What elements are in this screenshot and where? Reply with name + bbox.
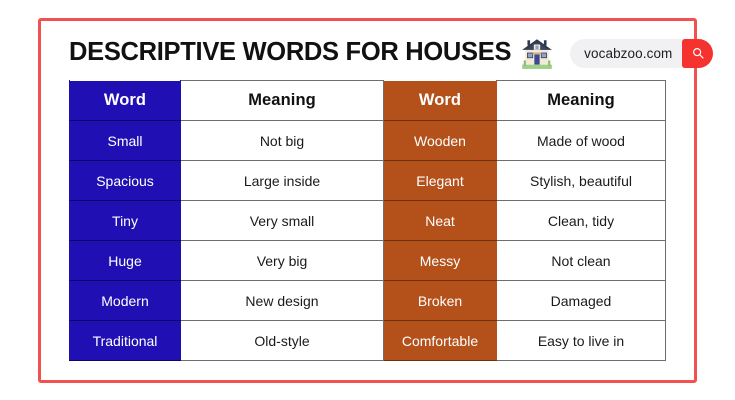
table-row: Modern New design Broken Damaged	[70, 281, 666, 321]
cell-meaning-right: Stylish, beautiful	[497, 161, 666, 201]
poster-canvas: DESCRIPTIVE WORDS FOR HOUSES vocabzoo.co…	[0, 0, 735, 400]
cell-meaning-left: Not big	[181, 121, 384, 161]
cell-meaning-left: Very small	[181, 201, 384, 241]
cell-word-right: Wooden	[384, 121, 497, 161]
cell-word-right: Elegant	[384, 161, 497, 201]
cell-word-right: Neat	[384, 201, 497, 241]
cell-word-left: Small	[70, 121, 181, 161]
cell-word-right: Messy	[384, 241, 497, 281]
cell-meaning-left: New design	[181, 281, 384, 321]
cell-word-left: Huge	[70, 241, 181, 281]
cell-meaning-right: Made of wood	[497, 121, 666, 161]
table-row: Small Not big Wooden Made of wood	[70, 121, 666, 161]
table-header-row: Word Meaning Word Meaning	[70, 81, 666, 121]
cell-meaning-right: Not clean	[497, 241, 666, 281]
cell-meaning-left: Large inside	[181, 161, 384, 201]
cell-meaning-right: Damaged	[497, 281, 666, 321]
vocabulary-table: Word Meaning Word Meaning Small Not big …	[69, 80, 666, 361]
search-icon	[691, 46, 705, 60]
cell-word-right: Comfortable	[384, 321, 497, 361]
brand-search-pill[interactable]: vocabzoo.com	[570, 39, 713, 68]
brand-label: vocabzoo.com	[584, 46, 682, 61]
poster-header: DESCRIPTIVE WORDS FOR HOUSES vocabzoo.co…	[69, 33, 669, 73]
cell-word-left: Tiny	[70, 201, 181, 241]
column-header-meaning-right: Meaning	[497, 81, 666, 121]
cell-word-left: Traditional	[70, 321, 181, 361]
table-row: Huge Very big Messy Not clean	[70, 241, 666, 281]
column-header-word-left: Word	[70, 81, 181, 121]
table-row: Traditional Old-style Comfortable Easy t…	[70, 321, 666, 361]
cell-meaning-left: Old-style	[181, 321, 384, 361]
table-row: Spacious Large inside Elegant Stylish, b…	[70, 161, 666, 201]
cell-word-left: Modern	[70, 281, 181, 321]
cell-meaning-right: Clean, tidy	[497, 201, 666, 241]
table-row: Tiny Very small Neat Clean, tidy	[70, 201, 666, 241]
page-title: DESCRIPTIVE WORDS FOR HOUSES	[69, 40, 511, 66]
cell-meaning-left: Very big	[181, 241, 384, 281]
column-header-meaning-left: Meaning	[181, 81, 384, 121]
cell-word-left: Spacious	[70, 161, 181, 201]
column-header-word-right: Word	[384, 81, 497, 121]
cell-meaning-right: Easy to live in	[497, 321, 666, 361]
house-icon	[520, 36, 554, 70]
cell-word-right: Broken	[384, 281, 497, 321]
search-button[interactable]	[682, 39, 713, 68]
